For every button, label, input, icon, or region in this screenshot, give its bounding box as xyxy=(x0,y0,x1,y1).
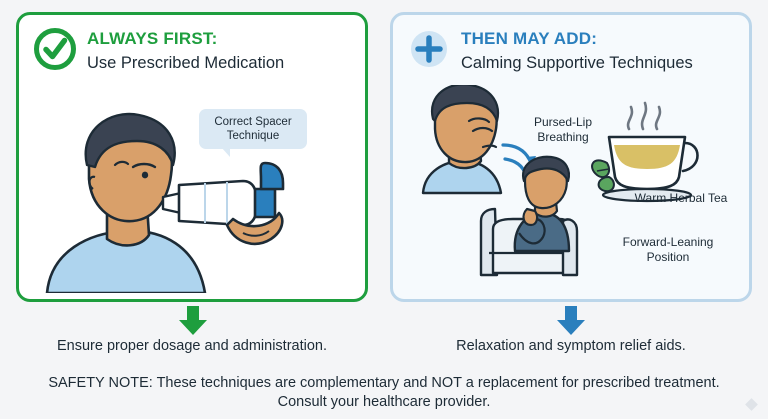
left-panel-heading-block: ALWAYS FIRST: Use Prescribed Medication xyxy=(87,27,284,74)
panel-then-may-add: THEN MAY ADD: Calming Supportive Techniq… xyxy=(390,12,752,302)
label-warm-herbal-tea: Warm Herbal Tea xyxy=(621,191,741,206)
spacer-technique-callout: Correct Spacer Technique xyxy=(199,109,307,149)
right-panel-header: THEN MAY ADD: Calming Supportive Techniq… xyxy=(407,27,739,74)
left-panel-caption: Ensure proper dosage and administration. xyxy=(16,338,368,354)
left-panel-heading-secondary: Use Prescribed Medication xyxy=(87,52,284,74)
right-panel-heading-block: THEN MAY ADD: Calming Supportive Techniq… xyxy=(461,27,693,74)
down-arrow-green-icon xyxy=(176,306,210,336)
plus-circle-icon xyxy=(407,27,451,71)
right-panel-caption: Relaxation and symptom relief aids. xyxy=(390,338,752,354)
left-panel-header: ALWAYS FIRST: Use Prescribed Medication xyxy=(33,27,355,74)
right-panel-heading-secondary: Calming Supportive Techniques xyxy=(461,52,693,74)
down-arrow-blue-icon xyxy=(554,306,588,336)
corner-diamond-decoration xyxy=(745,398,758,411)
label-forward-leaning-position: Forward-Leaning Position xyxy=(607,235,729,265)
right-panel-heading-primary: THEN MAY ADD: xyxy=(461,29,693,49)
left-panel-heading-primary: ALWAYS FIRST: xyxy=(87,29,284,49)
infographic-canvas: ALWAYS FIRST: Use Prescribed Medication xyxy=(0,0,768,419)
check-circle-icon xyxy=(33,27,77,71)
supportive-techniques-illustration: Pursed-Lip Breathing Warm Herbal Tea For… xyxy=(393,85,755,300)
inhaler-spacer-illustration: Correct Spacer Technique xyxy=(29,93,359,293)
panel-always-first: ALWAYS FIRST: Use Prescribed Medication xyxy=(16,12,368,302)
label-pursed-lip-breathing: Pursed-Lip Breathing xyxy=(511,115,615,145)
safety-note: SAFETY NOTE: These techniques are comple… xyxy=(40,374,728,412)
